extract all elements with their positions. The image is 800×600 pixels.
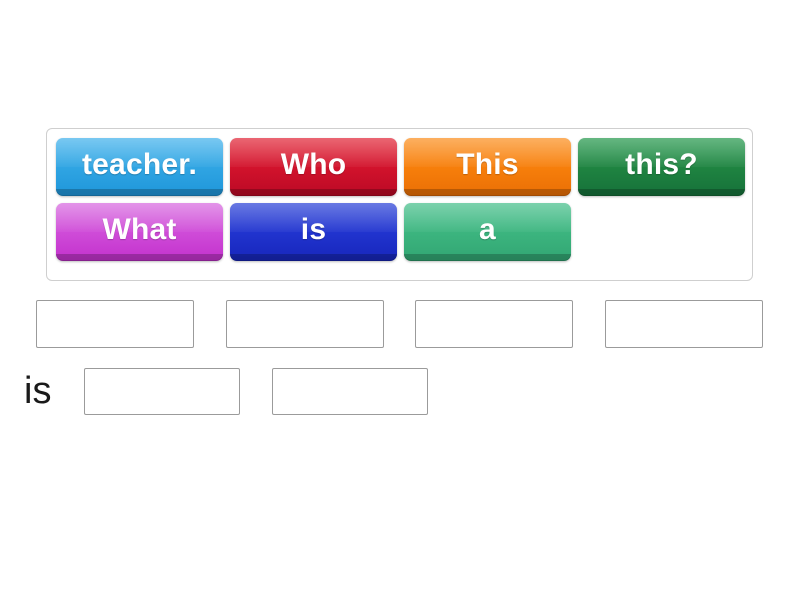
word-tile-label: What (102, 213, 176, 247)
word-tile-label: Who (281, 148, 347, 182)
tile-row-2: What is a (56, 203, 752, 261)
answer-slot-2[interactable] (226, 300, 384, 348)
answer-slot-4[interactable] (605, 300, 763, 348)
word-tile-label: This (456, 148, 518, 182)
word-tile-label: a (479, 213, 496, 247)
word-tile-this-question[interactable]: this? (578, 138, 745, 196)
answer-slot-5[interactable] (84, 368, 240, 415)
answer-slot-1[interactable] (36, 300, 194, 348)
tile-row-1: teacher. Who This this? (56, 138, 752, 196)
word-tile-this-capital[interactable]: This (404, 138, 571, 196)
word-tile-bank: teacher. Who This this? What is a (46, 128, 753, 281)
word-tile-teacher[interactable]: teacher. (56, 138, 223, 196)
answer-slot-3[interactable] (415, 300, 573, 348)
fixed-word-is: is (24, 368, 51, 415)
word-tile-a[interactable]: a (404, 203, 571, 261)
word-tile-is[interactable]: is (230, 203, 397, 261)
answer-slot-6[interactable] (272, 368, 428, 415)
word-tile-who[interactable]: Who (230, 138, 397, 196)
word-tile-label: is (301, 213, 326, 247)
word-tile-what[interactable]: What (56, 203, 223, 261)
word-tile-label: this? (625, 148, 698, 182)
word-tile-label: teacher. (82, 148, 197, 182)
